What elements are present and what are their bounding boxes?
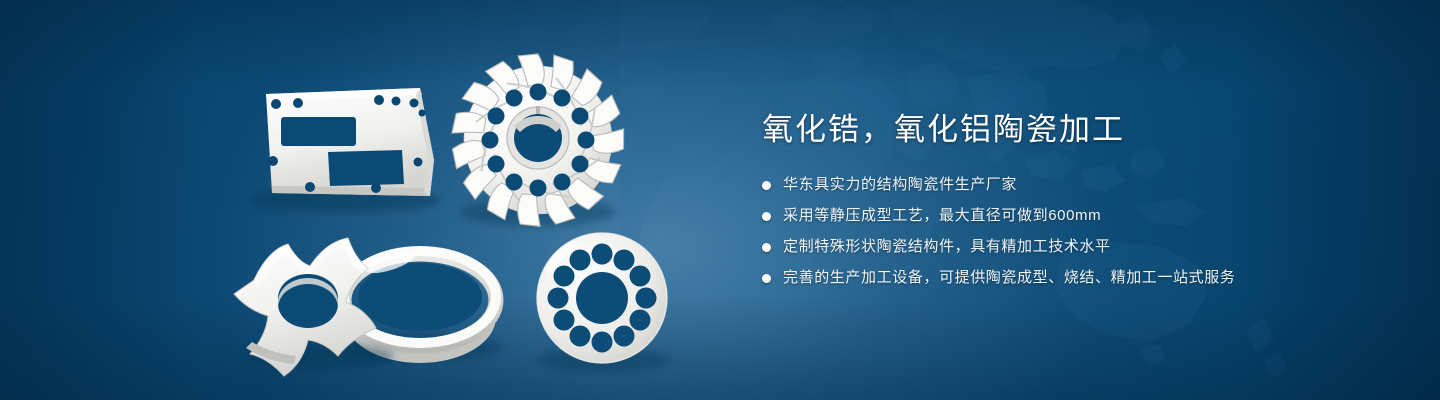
bullet-dot-icon xyxy=(762,243,771,252)
feature-text: 采用等静压成型工艺，最大直径可做到600mm xyxy=(783,204,1101,228)
ceramic-perforated-disc-part xyxy=(537,233,670,372)
feature-text: 华东具实力的结构陶瓷件生产厂家 xyxy=(783,173,1017,197)
list-item: 华东具实力的结构陶瓷件生产厂家 xyxy=(762,173,1382,197)
ceramic-ring-part xyxy=(344,246,502,363)
feature-text: 定制特殊形状陶瓷结构件，具有精加工技术水平 xyxy=(783,235,1111,259)
banner-copy: 氧化锆，氧化铝陶瓷加工 华东具实力的结构陶瓷件生产厂家 采用等静压成型工艺，最大… xyxy=(762,108,1382,297)
ceramic-impeller-part xyxy=(450,53,626,228)
bullet-dot-icon xyxy=(762,181,771,190)
bullet-dot-icon xyxy=(762,274,771,283)
list-item: 定制特殊形状陶瓷结构件，具有精加工技术水平 xyxy=(762,235,1382,259)
page-title: 氧化锆，氧化铝陶瓷加工 xyxy=(762,108,1382,152)
list-item: 完善的生产加工设备，可提供陶瓷成型、烧结、精加工一站式服务 xyxy=(762,266,1382,290)
list-item: 采用等静压成型工艺，最大直径可做到600mm xyxy=(762,204,1382,228)
feature-list: 华东具实力的结构陶瓷件生产厂家 采用等静压成型工艺，最大直径可做到600mm 定… xyxy=(762,173,1382,290)
ceramic-plate-part xyxy=(250,88,440,212)
hero-banner: 氧化锆，氧化铝陶瓷加工 华东具实力的结构陶瓷件生产厂家 采用等静压成型工艺，最大… xyxy=(0,0,1440,400)
ceramic-products-image xyxy=(0,0,720,400)
feature-text: 完善的生产加工设备，可提供陶瓷成型、烧结、精加工一站式服务 xyxy=(783,266,1235,290)
bullet-dot-icon xyxy=(762,212,771,221)
